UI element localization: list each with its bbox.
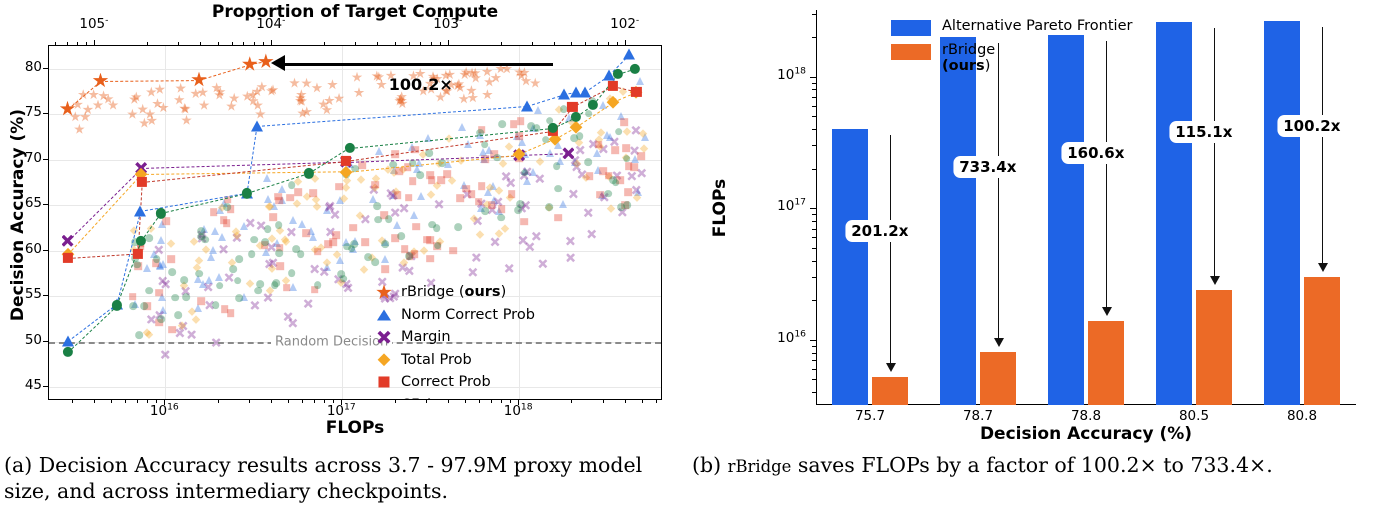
- bar-rbridge[interactable]: [872, 377, 908, 405]
- scatter-marker-diamond: [582, 173, 591, 182]
- scatter-marker-triangle: [215, 273, 223, 281]
- scatter-marker-star: [396, 95, 407, 106]
- savings-arrow-head: [1210, 276, 1220, 285]
- scatter-marker-diamond: [302, 193, 311, 202]
- scatter-marker-diamond: [275, 226, 284, 235]
- panel-b-x-tick-label: 78.8: [1046, 408, 1126, 424]
- scatter-marker-circle: [371, 258, 379, 266]
- scatter-marker-star: [455, 82, 466, 93]
- scatter-marker-star: [179, 103, 190, 114]
- x-minor-tickmark: [302, 400, 303, 403]
- panel-b-y-tick-label: 1017: [744, 198, 806, 214]
- panel-b-legend-swatch: [891, 20, 931, 36]
- scatter-marker-square: [508, 190, 516, 198]
- scatter-marker-diamond: [282, 276, 291, 285]
- scatter-marker-triangle: [534, 106, 542, 114]
- scatter-marker-circle: [553, 162, 561, 170]
- scatter-marker-square: [227, 310, 235, 318]
- y-tick-label: 55: [0, 286, 42, 302]
- savings-arrow-line: [1106, 41, 1107, 306]
- scatter-marker-triangle: [523, 177, 531, 185]
- scatter-marker-square: [624, 189, 632, 197]
- pareto-line: [613, 92, 637, 103]
- scatter-marker-circle: [337, 270, 345, 278]
- scatter-marker-x: [599, 145, 608, 154]
- savings-factor-label: 115.1x: [1169, 121, 1238, 143]
- legend-item-diamond[interactable]: Total Prob: [367, 350, 535, 371]
- pareto-line: [100, 80, 199, 82]
- x-minor-tickmark: [94, 400, 95, 403]
- bar-alternative-pareto[interactable]: [832, 129, 868, 405]
- bar-rbridge[interactable]: [1088, 321, 1124, 405]
- scatter-marker-square: [517, 117, 525, 125]
- scatter-marker-circle: [382, 240, 390, 248]
- scatter-marker-star: [74, 124, 85, 135]
- y-tick-label: 50: [0, 332, 42, 348]
- savings-arrow-head: [1318, 263, 1328, 272]
- scatter-marker-star: [181, 115, 192, 126]
- scatter-marker-triangle: [410, 211, 418, 219]
- scatter-marker-triangle: [264, 195, 272, 203]
- scatter-marker-x: [569, 189, 578, 198]
- scatter-marker-circle: [314, 281, 322, 289]
- legend-marker-star: [367, 283, 401, 301]
- scatter-marker-circle: [157, 315, 165, 323]
- scatter-marker-circle: [554, 185, 562, 193]
- gridline-v: [165, 46, 166, 399]
- scatter-marker-diamond: [189, 237, 198, 246]
- savings-factor-label: 733.4x: [953, 156, 1022, 178]
- scatter-marker-circle: [202, 236, 210, 244]
- scatter-marker-circle: [344, 243, 352, 251]
- scatter-marker-square: [426, 171, 434, 179]
- scatter-marker-star: [459, 69, 470, 80]
- scatter-marker-diamond: [469, 214, 478, 223]
- gridline-h: [49, 114, 661, 115]
- scatter-marker-square: [426, 237, 434, 245]
- scatter-marker-triangle: [641, 133, 649, 141]
- scatter-marker-circle: [229, 265, 237, 273]
- scatter-marker-triangle: [559, 200, 567, 208]
- scatter-marker-square: [274, 193, 282, 201]
- savings-arrow-head: [886, 363, 896, 372]
- scatter-marker-x: [435, 200, 444, 209]
- scatter-marker-triangle: [381, 238, 389, 246]
- bar-alternative-pareto[interactable]: [940, 37, 976, 405]
- savings-arrow-head: [994, 338, 1004, 347]
- scatter-marker-diamond: [383, 165, 392, 174]
- pareto-line: [613, 86, 636, 92]
- scatter-marker-x: [600, 193, 609, 202]
- scatter-marker-diamond: [312, 203, 321, 212]
- panel-a-top-axis-title: Proportion of Target Compute: [48, 2, 662, 22]
- y-tick-label: 60: [0, 241, 42, 257]
- scatter-marker-diamond: [143, 328, 152, 337]
- scatter-marker-diamond: [574, 139, 583, 148]
- scatter-marker-diamond: [377, 353, 390, 366]
- savings-arrow-head: [1102, 307, 1112, 316]
- scatter-marker-triangle: [194, 304, 202, 312]
- scatter-marker-triangle: [485, 146, 493, 154]
- scatter-marker-triangle: [289, 283, 297, 291]
- scatter-marker-star: [327, 79, 338, 90]
- scatter-marker-diamond: [294, 177, 303, 186]
- bar-alternative-pareto[interactable]: [1156, 22, 1192, 405]
- caption-b-smallcaps: rBridge: [728, 457, 792, 476]
- panel-b-x-tick-label: 78.7: [938, 408, 1018, 424]
- x-minor-tickmark: [111, 400, 112, 403]
- top-tick-label: 103-: [420, 16, 476, 32]
- scatter-marker-star: [211, 82, 222, 93]
- legend-item-triangle[interactable]: Norm Correct Prob: [367, 305, 535, 326]
- scatter-marker-x: [331, 210, 340, 219]
- scatter-marker-square: [622, 144, 630, 152]
- scatter-marker-star: [226, 101, 237, 112]
- scatter-marker-square: [163, 218, 171, 226]
- scatter-marker-diamond: [368, 254, 377, 263]
- scatter-marker-x: [632, 186, 641, 195]
- panel-b-flops-savings: FLOPs 101610171018 201.2x733.4x160.6x115…: [688, 0, 1376, 450]
- x-tick-label: 1017: [313, 403, 369, 419]
- bar-rbridge[interactable]: [980, 352, 1016, 405]
- scatter-marker-square: [311, 286, 319, 294]
- scatter-marker-star: [174, 94, 185, 105]
- scatter-marker-square: [444, 171, 452, 179]
- bar-rbridge[interactable]: [1304, 277, 1340, 405]
- scatter-marker-diamond: [312, 195, 321, 204]
- scatter-marker-x: [198, 234, 207, 243]
- scatter-marker-diamond: [355, 211, 364, 220]
- scatter-marker-circle: [197, 228, 205, 236]
- scatter-marker-diamond: [409, 247, 418, 256]
- scatter-marker-star: [139, 118, 150, 129]
- scatter-marker-star: [376, 284, 392, 300]
- scatter-marker-diamond: [356, 175, 365, 184]
- scatter-marker-diamond: [595, 136, 604, 145]
- scatter-marker-diamond: [167, 239, 176, 248]
- scatter-marker-circle: [292, 245, 300, 253]
- scatter-marker-x: [576, 146, 585, 155]
- scatter-marker-star: [482, 89, 493, 100]
- scatter-marker-square: [457, 195, 465, 203]
- scatter-marker-circle: [623, 155, 631, 163]
- scatter-marker-star: [484, 76, 495, 87]
- scatter-marker-triangle: [207, 253, 215, 261]
- gridline-h: [49, 251, 661, 252]
- scatter-marker-star: [470, 73, 481, 84]
- scatter-marker-square: [155, 319, 163, 327]
- scatter-marker-square: [378, 377, 389, 388]
- caption-a-text: Decision Accuracy results across 3.7 - 9…: [4, 453, 642, 503]
- panel-a-decision-accuracy: Proportion of Target Compute 105-104-103…: [0, 0, 688, 450]
- scatter-marker-x: [627, 172, 636, 181]
- scatter-marker-x: [477, 199, 486, 208]
- panel-b-x-tick-label: 80.8: [1262, 408, 1342, 424]
- scatter-marker-diamond: [144, 330, 153, 339]
- scatter-marker-triangle: [631, 155, 639, 163]
- scatter-marker-star: [197, 87, 208, 98]
- scatter-marker-star: [215, 86, 226, 97]
- scatter-marker-circle: [516, 200, 524, 208]
- scatter-marker-circle: [374, 216, 382, 224]
- scatter-marker-circle: [609, 176, 617, 184]
- scatter-marker-x: [405, 266, 414, 275]
- scatter-marker-x: [284, 312, 293, 321]
- scatter-marker-star: [103, 94, 114, 105]
- scatter-marker-x: [587, 230, 596, 239]
- scatter-marker-triangle: [194, 275, 202, 283]
- pareto-line: [553, 117, 577, 129]
- scatter-marker-circle: [433, 225, 441, 233]
- pareto-line: [160, 193, 247, 214]
- scatter-marker-star: [324, 95, 335, 106]
- y-tick-label: 80: [0, 59, 42, 75]
- scatter-marker-circle: [272, 279, 280, 287]
- scatter-marker-x: [566, 253, 575, 262]
- scatter-marker-triangle: [156, 261, 164, 269]
- scatter-marker-triangle: [131, 300, 139, 308]
- scatter-marker-triangle: [199, 280, 207, 288]
- scatter-marker-square: [596, 191, 604, 199]
- scatter-marker-square: [595, 141, 603, 149]
- x-minor-tickmark: [271, 400, 272, 403]
- scatter-marker-x: [388, 191, 397, 200]
- scatter-marker-star: [248, 95, 259, 106]
- savings-arrow-line: [1214, 28, 1215, 276]
- panel-b-legend-item-1[interactable]: rBridge(ours): [891, 42, 1132, 74]
- panel-b-y-axis-title: FLOPs: [710, 78, 730, 338]
- scatter-marker-star: [295, 93, 306, 104]
- scatter-marker-triangle: [369, 195, 377, 203]
- scatter-marker-star: [397, 98, 408, 109]
- scatter-marker-triangle: [489, 182, 497, 190]
- scatter-marker-star: [466, 85, 477, 96]
- scatter-marker-circle: [527, 122, 535, 130]
- scatter-marker-diamond: [433, 182, 442, 191]
- scatter-marker-square: [605, 172, 613, 180]
- scatter-marker-diamond: [604, 172, 613, 181]
- scatter-marker-triangle: [211, 227, 219, 235]
- scatter-marker-diamond: [391, 187, 400, 196]
- scatter-marker-x: [250, 301, 259, 310]
- scatter-marker-circle: [271, 281, 279, 289]
- scatter-marker-star: [295, 95, 306, 106]
- scatter-marker-x: [378, 331, 391, 344]
- scatter-marker-triangle: [554, 141, 562, 149]
- scatter-marker-diamond: [322, 259, 331, 268]
- panel-b-x-tick-label: 80.5: [1154, 408, 1234, 424]
- scatter-marker-x: [637, 169, 646, 178]
- scatter-marker-star: [146, 115, 157, 126]
- scatter-marker-circle: [521, 169, 529, 177]
- scatter-marker-x: [502, 172, 511, 181]
- scatter-marker-diamond: [436, 238, 445, 247]
- scatter-marker-square: [276, 262, 284, 270]
- scatter-marker-x: [578, 170, 587, 179]
- scatter-marker-star: [152, 98, 163, 109]
- top-tick-label: 104-: [243, 16, 299, 32]
- bar-rbridge[interactable]: [1196, 290, 1232, 405]
- scatter-marker-circle: [340, 275, 348, 283]
- legend-item-star[interactable]: rBridge (ours): [367, 282, 535, 303]
- scatter-marker-circle: [234, 277, 242, 285]
- panel-b-x-axis-title: Decision Accuracy (%): [816, 424, 1356, 444]
- scatter-marker-diamond: [280, 236, 289, 245]
- scatter-marker-x: [265, 260, 274, 269]
- scatter-marker-x: [264, 293, 273, 302]
- legend-item-square[interactable]: Correct Prob: [367, 372, 535, 393]
- scatter-marker-star: [93, 100, 104, 111]
- scatter-marker-x: [225, 273, 234, 282]
- scatter-marker-square: [423, 236, 431, 244]
- scatter-marker-x: [320, 267, 329, 276]
- scatter-marker-triangle: [298, 220, 306, 228]
- pareto-line: [564, 92, 576, 95]
- scatter-marker-circle: [560, 106, 568, 114]
- scatter-marker-triangle: [240, 222, 248, 230]
- scatter-marker-star: [154, 84, 165, 95]
- speedup-arrow-head: [271, 55, 285, 71]
- scatter-marker-square: [478, 182, 486, 190]
- pareto-line: [140, 193, 247, 212]
- scatter-marker-diamond: [266, 287, 275, 296]
- scatter-marker-square: [221, 305, 229, 313]
- scatter-marker-square: [433, 242, 441, 250]
- savings-factor-label: 160.6x: [1061, 142, 1130, 164]
- scatter-marker-triangle: [273, 239, 281, 247]
- scatter-marker-star: [146, 87, 157, 98]
- scatter-marker-star: [301, 106, 312, 117]
- speedup-annotation-label: 100.2×: [389, 75, 453, 94]
- scatter-marker-x: [268, 258, 277, 267]
- pareto-line: [519, 153, 568, 156]
- scatter-marker-square: [409, 177, 417, 185]
- savings-arrow-line: [890, 135, 891, 363]
- scatter-marker-star: [129, 94, 140, 105]
- scatter-marker-square: [625, 162, 633, 170]
- scatter-marker-diamond: [640, 144, 649, 153]
- legend-item-x[interactable]: Margin: [367, 327, 535, 348]
- scatter-marker-star: [490, 72, 501, 83]
- scatter-marker-circle: [275, 221, 283, 229]
- scatter-marker-x: [326, 227, 335, 236]
- scatter-marker-star: [394, 95, 405, 106]
- scatter-marker-square: [478, 126, 486, 134]
- scatter-marker-x: [246, 218, 255, 227]
- scatter-marker-diamond: [505, 193, 514, 202]
- x-minor-tickmark: [288, 400, 289, 403]
- x-minor-tickmark: [72, 400, 73, 403]
- panel-b-legend-item-0[interactable]: Alternative Pareto Frontier: [891, 18, 1132, 36]
- scatter-marker-circle: [514, 206, 522, 214]
- scatter-marker-square: [555, 214, 563, 222]
- scatter-marker-x: [523, 167, 532, 176]
- scatter-marker-x: [288, 319, 297, 328]
- scatter-marker-square: [287, 194, 295, 202]
- scatter-marker-star: [80, 111, 91, 122]
- scatter-marker-star: [353, 87, 364, 98]
- scatter-marker-circle: [378, 399, 389, 400]
- bar-alternative-pareto[interactable]: [1264, 21, 1300, 405]
- scatter-marker-square: [521, 218, 529, 226]
- scatter-marker-x: [232, 233, 241, 242]
- scatter-marker-diamond: [535, 157, 544, 166]
- scatter-marker-square: [611, 146, 619, 154]
- caption-b-text: saves FLOPs by a factor of 100.2× to 733…: [798, 453, 1273, 477]
- scatter-marker-square: [332, 232, 340, 240]
- scatter-marker-square: [143, 302, 151, 310]
- scatter-marker-x: [175, 329, 184, 338]
- scatter-marker-x: [391, 208, 400, 217]
- scatter-marker-circle: [130, 302, 138, 310]
- scatter-marker-circle: [350, 240, 358, 248]
- scatter-marker-x: [342, 280, 351, 289]
- scatter-marker-triangle: [556, 157, 564, 165]
- scatter-marker-star: [266, 85, 277, 96]
- scatter-marker-x: [361, 215, 370, 224]
- scatter-marker-x: [491, 237, 500, 246]
- scatter-marker-square: [283, 284, 291, 292]
- scatter-marker-triangle: [289, 216, 297, 224]
- scatter-marker-triangle: [479, 148, 487, 156]
- scatter-marker-star: [458, 93, 469, 104]
- scatter-marker-x: [472, 253, 481, 262]
- scatter-marker-circle: [198, 233, 206, 241]
- scatter-marker-square: [349, 224, 357, 232]
- scatter-marker-square: [294, 188, 302, 196]
- scatter-marker-square: [261, 242, 269, 250]
- scatter-marker-circle: [135, 331, 143, 339]
- panel-b-legend: Alternative Pareto FrontierrBridge(ours): [891, 18, 1132, 80]
- scatter-marker-diamond: [426, 190, 435, 199]
- scatter-marker-square: [599, 167, 607, 175]
- scatter-marker-triangle: [323, 263, 331, 271]
- scatter-marker-triangle: [263, 174, 271, 182]
- scatter-marker-square: [616, 176, 624, 184]
- scatter-marker-triangle: [309, 233, 317, 241]
- panel-b-legend-swatch: [891, 44, 931, 60]
- scatter-marker-diamond: [555, 105, 564, 114]
- scatter-marker-triangle: [460, 181, 468, 189]
- pareto-line: [67, 306, 117, 353]
- y-tick-label: 75: [0, 104, 42, 120]
- scatter-marker-triangle: [390, 191, 398, 199]
- panel-b-y-tick-label: 1016: [744, 330, 806, 346]
- scatter-marker-triangle: [634, 188, 642, 196]
- scatter-marker-x: [538, 259, 547, 268]
- scatter-marker-x: [589, 140, 598, 149]
- scatter-marker-star: [373, 72, 384, 83]
- scatter-marker-star: [453, 79, 464, 90]
- y-tick-label: 70: [0, 150, 42, 166]
- scatter-marker-triangle: [458, 123, 466, 131]
- scatter-marker-star: [214, 89, 225, 100]
- scatter-marker-x: [572, 162, 581, 171]
- scatter-marker-diamond: [495, 229, 504, 238]
- bar-alternative-pareto[interactable]: [1048, 35, 1084, 405]
- scatter-marker-x: [147, 315, 156, 324]
- scatter-marker-circle: [428, 221, 436, 229]
- scatter-marker-diamond: [633, 194, 642, 203]
- scatter-marker-x: [386, 189, 395, 198]
- scatter-marker-diamond: [622, 128, 631, 137]
- scatter-marker-triangle: [375, 147, 383, 155]
- scatter-marker-circle: [255, 287, 263, 295]
- scatter-marker-x: [287, 228, 296, 237]
- scatter-marker-x: [344, 283, 353, 292]
- scatter-marker-star: [516, 70, 527, 81]
- pareto-line: [257, 106, 526, 127]
